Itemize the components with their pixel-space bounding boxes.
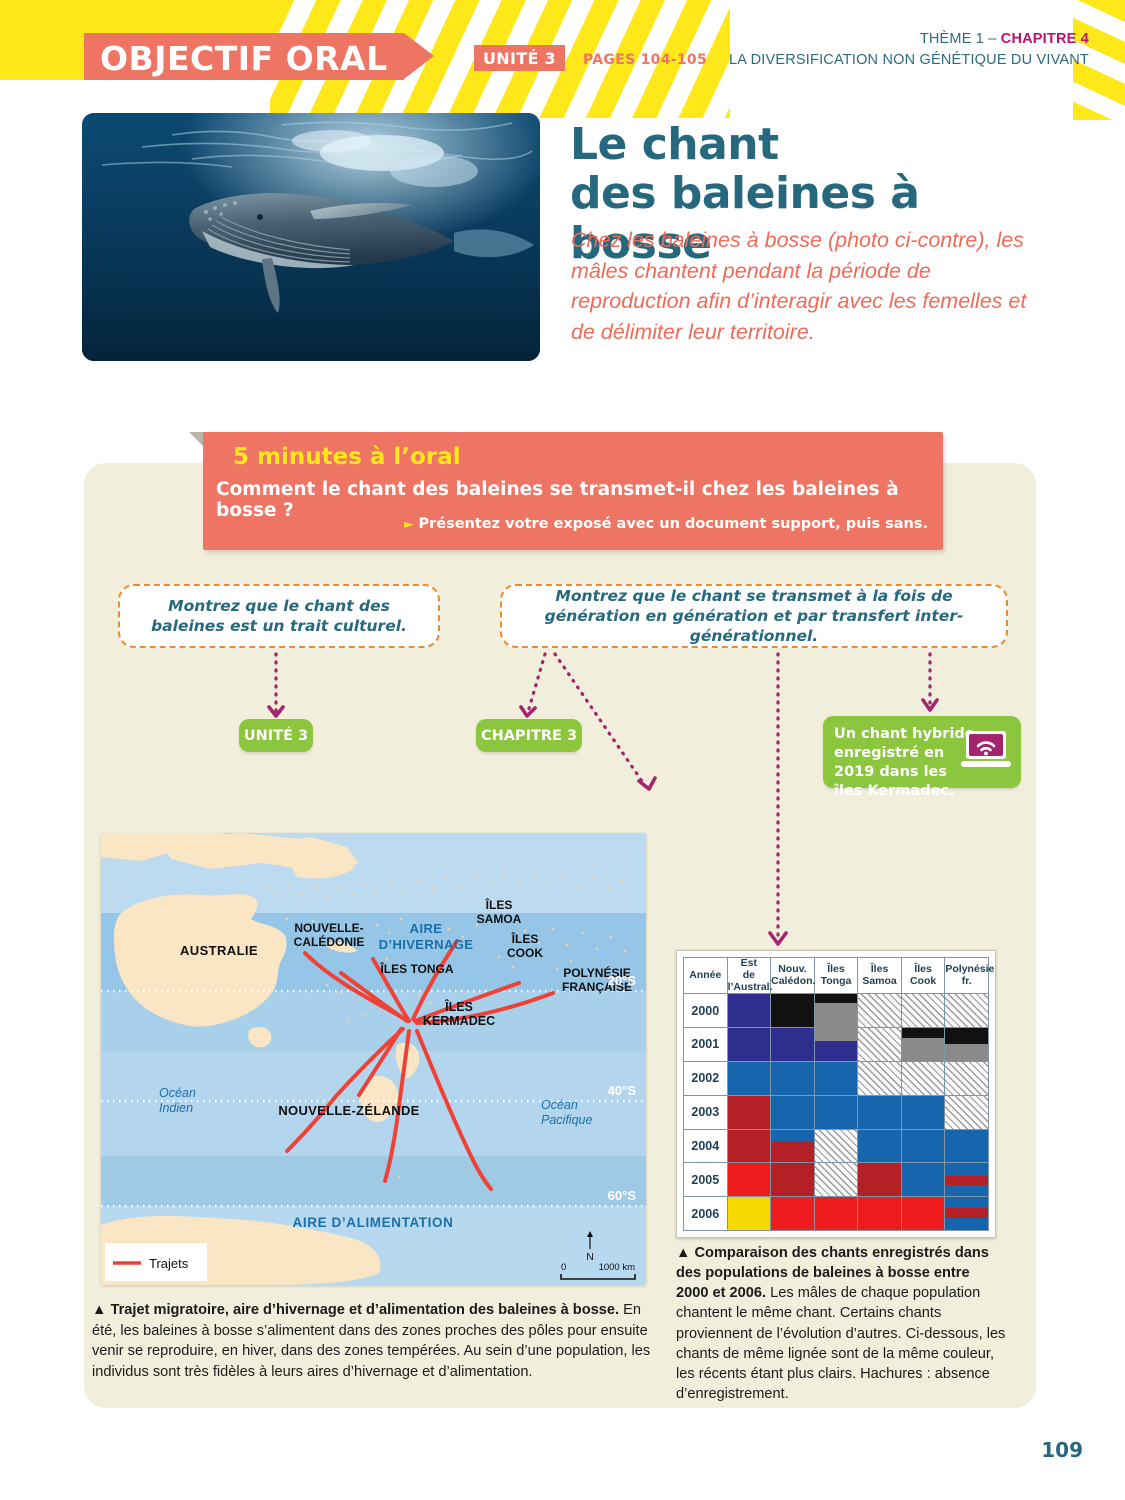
- cell-segment-grey: [815, 1028, 858, 1040]
- question-box-note: ► Présentez votre exposé avec un documen…: [404, 516, 928, 532]
- table-cell-4-3: [858, 1129, 902, 1163]
- cell-segment-darkred: [771, 1142, 814, 1162]
- cell-segment-darkred: [771, 1163, 814, 1196]
- svg-text:CALÉDONIE: CALÉDONIE: [294, 934, 365, 949]
- table-cell-5-3: [858, 1163, 902, 1197]
- table-cell-0-4: [901, 994, 945, 1028]
- table-cell-1-0: [727, 1028, 771, 1062]
- cell-segment-red: [902, 1197, 945, 1230]
- table-cell-6-5: [945, 1197, 989, 1231]
- svg-text:N: N: [586, 1251, 594, 1263]
- pages-label: PAGES 104-105: [583, 52, 707, 68]
- table-header-col-0: Estdel’Austral.: [727, 958, 771, 994]
- button-chapitre-3[interactable]: CHAPITRE 3: [476, 719, 582, 752]
- table-header-col-1: Nouv.Calédon.: [771, 958, 815, 994]
- table-cell-4-2: [814, 1129, 858, 1163]
- svg-text:1000 km: 1000 km: [599, 1262, 636, 1273]
- table-header-col-3: ÎlesSamoa: [858, 958, 902, 994]
- cell-segment-darkred: [728, 1130, 771, 1163]
- table-row: 2005: [684, 1163, 989, 1197]
- cell-segment-red: [815, 1197, 858, 1230]
- table-cell-2-4: [901, 1061, 945, 1095]
- cell-segment-darkred: [728, 1096, 771, 1129]
- unite-badge[interactable]: UNITÉ 3: [474, 45, 565, 71]
- table-row: 2003: [684, 1095, 989, 1129]
- cell-segment-indigo: [771, 1028, 814, 1061]
- table-cell-0-3: [858, 994, 902, 1028]
- svg-text:Indien: Indien: [159, 1101, 193, 1115]
- label-nouvelle-caledonie: NOUVELLE-: [294, 921, 363, 935]
- cell-segment-blue: [858, 1096, 901, 1129]
- map-illustration: AIRE D’HIVERNAGE AIRE D’ALIMENTATION AUS…: [101, 833, 646, 1285]
- page-subtitle: Chez les baleines à bosse (photo ci-cont…: [571, 225, 1051, 347]
- table-cell-6-0: [727, 1197, 771, 1231]
- table-cell-5-4: [901, 1163, 945, 1197]
- table-year-cell: 2001: [684, 1028, 728, 1062]
- table-cell-5-2: [814, 1163, 858, 1197]
- table-header-col-4: ÎlesCook: [901, 958, 945, 994]
- table-cell-5-5: [945, 1163, 989, 1197]
- table-header-col-2: ÎlesTonga: [814, 958, 858, 994]
- cell-segment-hatch: [902, 994, 945, 1027]
- button-unite-3[interactable]: UNITÉ 3: [239, 719, 313, 752]
- svg-text:SAMOA: SAMOA: [477, 912, 522, 926]
- table-year-cell: 2005: [684, 1163, 728, 1197]
- table-cell-2-2: [814, 1061, 858, 1095]
- table-cell-6-1: [771, 1197, 815, 1231]
- cell-segment-blue: [945, 1197, 988, 1208]
- cell-segment-blue: [945, 1163, 988, 1176]
- cell-segment-blue: [945, 1130, 988, 1163]
- table-cell-2-3: [858, 1061, 902, 1095]
- table-cell-0-2: [814, 994, 858, 1028]
- prompt-box-1: Montrez que le chant des baleines est un…: [118, 584, 440, 648]
- cell-segment-blue: [945, 1218, 988, 1230]
- prompt-box-2: Montrez que le chant se transmet à la fo…: [500, 584, 1008, 648]
- label-nouvelle-zelande: NOUVELLE-ZÉLANDE: [278, 1103, 419, 1118]
- table-row: 2004: [684, 1129, 989, 1163]
- cell-segment-blue: [771, 1096, 814, 1129]
- table-year-cell: 2002: [684, 1061, 728, 1095]
- table-header-annee: Année: [684, 958, 728, 994]
- table-cell-4-1: [771, 1129, 815, 1163]
- table-cell-1-1: [771, 1028, 815, 1062]
- table-cell-3-1: [771, 1095, 815, 1129]
- table-cell-6-4: [901, 1197, 945, 1231]
- laptop-wifi-icon: [960, 729, 1012, 773]
- table-cell-1-3: [858, 1028, 902, 1062]
- label-aire-alimentation: AIRE D’ALIMENTATION: [293, 1215, 454, 1230]
- svg-text:0: 0: [561, 1262, 566, 1273]
- cell-segment-red: [771, 1197, 814, 1230]
- legend-trajets-label: Trajets: [149, 1256, 189, 1271]
- cell-segment-hatch: [815, 1130, 858, 1163]
- table-cell-5-0: [727, 1163, 771, 1197]
- svg-text:D’HIVERNAGE: D’HIVERNAGE: [379, 937, 474, 952]
- map-caption-bold: ▲ Trajet migratoire, aire d’hivernage et…: [92, 1302, 619, 1318]
- table-cell-5-1: [771, 1163, 815, 1197]
- table-row: 2002: [684, 1061, 989, 1095]
- table-cell-3-5: [945, 1095, 989, 1129]
- cell-segment-darkred: [945, 1208, 988, 1218]
- table-year-cell: 2003: [684, 1095, 728, 1129]
- whale-photo: [82, 113, 540, 361]
- cell-segment-red: [858, 1197, 901, 1230]
- cell-segment-indigo: [728, 994, 771, 1027]
- green-card-text: Un chant hybride enregistré en 2019 dans…: [834, 725, 979, 802]
- cell-segment-blue: [945, 1185, 988, 1196]
- svg-text:Pacifique: Pacifique: [541, 1113, 592, 1127]
- ribbon-label: OBJECTIF ORAL: [84, 33, 404, 80]
- cell-segment-hatch: [945, 1096, 988, 1129]
- cell-segment-blue: [902, 1163, 945, 1196]
- note-marker-icon: ►: [404, 517, 413, 531]
- cell-segment-blue: [815, 1096, 858, 1129]
- question-box: 5 minutes à l’oral Comment le chant des …: [203, 432, 943, 550]
- note-text: Présentez votre exposé avec un document …: [418, 516, 928, 532]
- label-lat-20s: 20°S: [608, 973, 637, 988]
- cell-segment-blue: [902, 1130, 945, 1163]
- green-info-card[interactable]: Un chant hybride enregistré en 2019 dans…: [823, 716, 1021, 788]
- cell-segment-black: [771, 994, 814, 1027]
- cell-segment-grey: [945, 1044, 988, 1061]
- table-cell-3-3: [858, 1095, 902, 1129]
- table-cell-0-0: [727, 994, 771, 1028]
- table-year-cell: 2004: [684, 1129, 728, 1163]
- objectif-oral-ribbon: OBJECTIF ORAL: [84, 33, 434, 80]
- table-cell-1-5: [945, 1028, 989, 1062]
- ribbon-arrow-icon: [404, 33, 434, 79]
- song-comparison-table: AnnéeEstdel’Austral.Nouv.Calédon.ÎlesTon…: [683, 957, 989, 1231]
- cell-segment-blue: [858, 1130, 901, 1163]
- table-row: 2001: [684, 1028, 989, 1062]
- map-legend: Trajets: [105, 1243, 207, 1281]
- table-caption-body: Les mâles de chaque population chantent …: [676, 1285, 1005, 1402]
- whale-photo-illustration: [82, 113, 540, 361]
- cell-segment-darkred: [858, 1163, 901, 1196]
- title-line-1: Le chant: [570, 120, 1070, 169]
- table-cell-0-1: [771, 994, 815, 1028]
- table-cell-4-5: [945, 1129, 989, 1163]
- label-australie: AUSTRALIE: [180, 943, 258, 958]
- question-box-question: Comment le chant des baleines se transme…: [216, 479, 943, 521]
- cell-segment-indigo: [728, 1028, 771, 1061]
- table-caption: ▲ Comparaison des chants enregistrés dan…: [676, 1243, 1006, 1404]
- cell-segment-hatch: [815, 1163, 858, 1196]
- table-header-col-5: Polynésiefr.: [945, 958, 989, 994]
- song-comparison-figure: AnnéeEstdel’Austral.Nouv.Calédon.ÎlesTon…: [676, 950, 996, 1238]
- table-cell-1-4: [901, 1028, 945, 1062]
- cell-segment-blue: [902, 1096, 945, 1129]
- table-row: 2000: [684, 994, 989, 1028]
- map-caption: ▲ Trajet migratoire, aire d’hivernage et…: [92, 1300, 657, 1383]
- cell-segment-hatch: [858, 1062, 901, 1095]
- table-row: 2006: [684, 1197, 989, 1231]
- cell-segment-blue: [771, 1062, 814, 1095]
- label-aire-hivernage: AIRE: [410, 921, 443, 936]
- cell-segment-grey: [815, 1003, 858, 1027]
- table-cell-4-0: [727, 1129, 771, 1163]
- table-cell-2-0: [727, 1061, 771, 1095]
- label-iles-samoa: ÎLES: [485, 897, 513, 912]
- label-iles-kermadec: ÎLES: [444, 999, 473, 1014]
- label-lat-60s: 60°S: [608, 1188, 637, 1203]
- cell-segment-hatch: [945, 1062, 988, 1095]
- theme-line: THÈME 1 – CHAPITRE 4: [920, 31, 1089, 47]
- label-iles-cook: ÎLES: [511, 931, 539, 946]
- label-iles-tonga: ÎLES TONGA: [379, 961, 453, 976]
- cell-segment-blue: [815, 1062, 858, 1095]
- cell-segment-grey: [902, 1038, 945, 1061]
- page-number: 109: [1041, 1438, 1083, 1462]
- theme-subtitle: LA DIVERSIFICATION NON GÉNÉTIQUE DU VIVA…: [729, 52, 1089, 68]
- cell-segment-hatch: [858, 1028, 901, 1061]
- cell-segment-black: [815, 994, 858, 1003]
- question-box-title: 5 minutes à l’oral: [233, 444, 461, 470]
- table-cell-4-4: [901, 1129, 945, 1163]
- table-cell-6-3: [858, 1197, 902, 1231]
- cell-segment-hatch: [902, 1062, 945, 1095]
- cell-segment-darkred: [945, 1176, 988, 1184]
- theme-prefix: THÈME 1 –: [920, 31, 1001, 47]
- table-year-cell: 2006: [684, 1197, 728, 1231]
- cell-segment-red: [728, 1163, 771, 1196]
- cell-segment-black: [945, 1028, 988, 1044]
- cell-segment-yellow: [728, 1197, 771, 1230]
- theme-chapter: CHAPITRE 4: [1001, 31, 1089, 47]
- table-cell-6-2: [814, 1197, 858, 1231]
- migration-map: AIRE D’HIVERNAGE AIRE D’ALIMENTATION AUS…: [101, 833, 646, 1285]
- label-ocean-indien: Océan: [159, 1086, 196, 1100]
- cell-segment-blue: [771, 1130, 814, 1142]
- cell-segment-hatch: [858, 994, 901, 1027]
- label-lat-40s: 40°S: [608, 1083, 637, 1098]
- table-cell-1-2: [814, 1028, 858, 1062]
- table-cell-3-2: [814, 1095, 858, 1129]
- table-cell-3-0: [727, 1095, 771, 1129]
- svg-text:KERMADEC: KERMADEC: [423, 1014, 495, 1028]
- table-cell-0-5: [945, 994, 989, 1028]
- table-cell-2-1: [771, 1061, 815, 1095]
- table-cell-2-5: [945, 1061, 989, 1095]
- cell-segment-blue: [728, 1062, 771, 1095]
- cell-segment-indigo: [815, 1041, 858, 1061]
- table-cell-3-4: [901, 1095, 945, 1129]
- label-ocean-pacifique: Océan: [541, 1098, 578, 1112]
- cell-segment-hatch: [945, 994, 988, 1027]
- svg-text:COOK: COOK: [507, 946, 543, 960]
- table-year-cell: 2000: [684, 994, 728, 1028]
- cell-segment-black: [902, 1028, 945, 1038]
